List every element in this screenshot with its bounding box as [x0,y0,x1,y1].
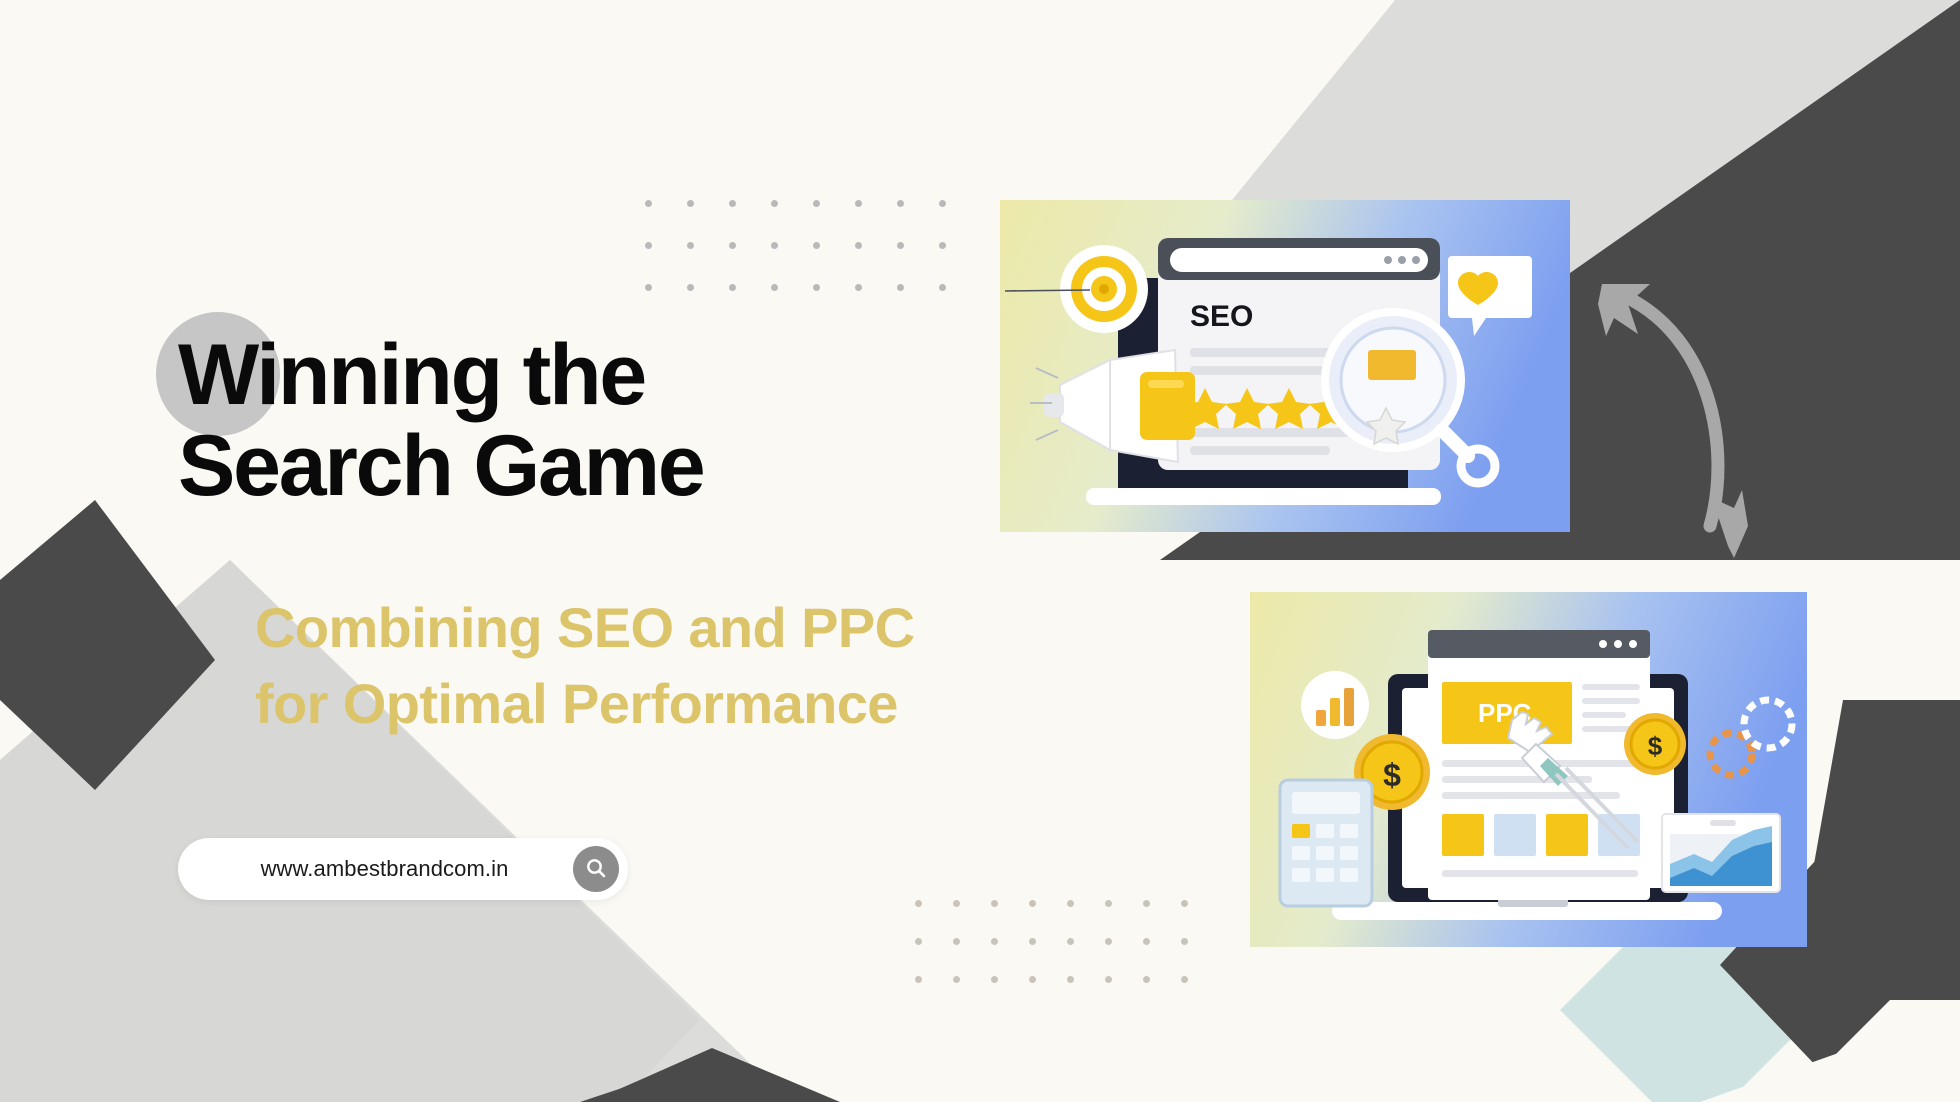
grid-dot [1181,938,1188,945]
grid-dot [1105,900,1112,907]
grid-dot [1105,938,1112,945]
page-title: Winning the Search Game [178,330,704,512]
grid-dot [645,200,652,207]
grid-dot [991,976,998,983]
illustration-card-ppc: PPC [1250,592,1807,947]
grid-dot [771,242,778,249]
grid-dot [915,900,922,907]
search-url-text[interactable]: www.ambestbrandcom.in [178,856,573,882]
grid-dot [771,200,778,207]
grid-dot [1067,900,1074,907]
page-subtitle: Combining SEO and PPC for Optimal Perfor… [255,590,914,741]
grid-dot [855,284,862,291]
grid-dot [991,938,998,945]
bar-chart-icon [1301,671,1369,739]
grid-dot [953,976,960,983]
grid-dot [813,284,820,291]
svg-text:$: $ [1383,757,1401,793]
grid-dot [855,242,862,249]
grid-dot [991,900,998,907]
seo-card-label: SEO [1190,300,1253,333]
grid-dot [729,284,736,291]
grid-dot [813,200,820,207]
grid-dot [953,900,960,907]
grid-dot [855,200,862,207]
grid-dot [1029,976,1036,983]
grid-dot [939,284,946,291]
grid-dot [1181,976,1188,983]
grid-dot [813,242,820,249]
dollar-coin-icon: $ [1624,713,1686,775]
grid-dot [1029,900,1036,907]
grid-dot [1067,976,1074,983]
grid-dot [897,284,904,291]
grid-dot [897,242,904,249]
svg-text:$: $ [1648,731,1663,761]
illustration-card-seo: SEO [1000,200,1570,532]
grid-dot [953,938,960,945]
calculator-icon [1280,780,1372,906]
grid-dot [1105,976,1112,983]
grid-dot [771,284,778,291]
grid-dot [915,976,922,983]
grid-dot [915,938,922,945]
headline-block: Winning the Search Game [178,330,704,512]
grid-dot [939,242,946,249]
grid-dot [1067,938,1074,945]
grid-dot [645,284,652,291]
grid-dot [729,242,736,249]
grid-dot [1143,976,1150,983]
magnifier-icon [584,856,608,883]
line-chart-icon [1662,814,1780,892]
banner-canvas: Winning the Search Game Combining SEO an… [0,0,1960,1102]
grid-dot [939,200,946,207]
grid-dot [1143,900,1150,907]
grid-dot [1143,938,1150,945]
grid-dot [645,242,652,249]
grid-dot [1181,900,1188,907]
grid-dot [687,200,694,207]
search-bar[interactable]: www.ambestbrandcom.in [178,838,628,900]
grid-dot [687,242,694,249]
grid-dot [897,200,904,207]
search-button[interactable] [573,846,619,892]
bidirectional-curved-arrow [1592,258,1762,568]
grid-dot [687,284,694,291]
grid-dot [729,200,736,207]
grid-dot [1029,938,1036,945]
